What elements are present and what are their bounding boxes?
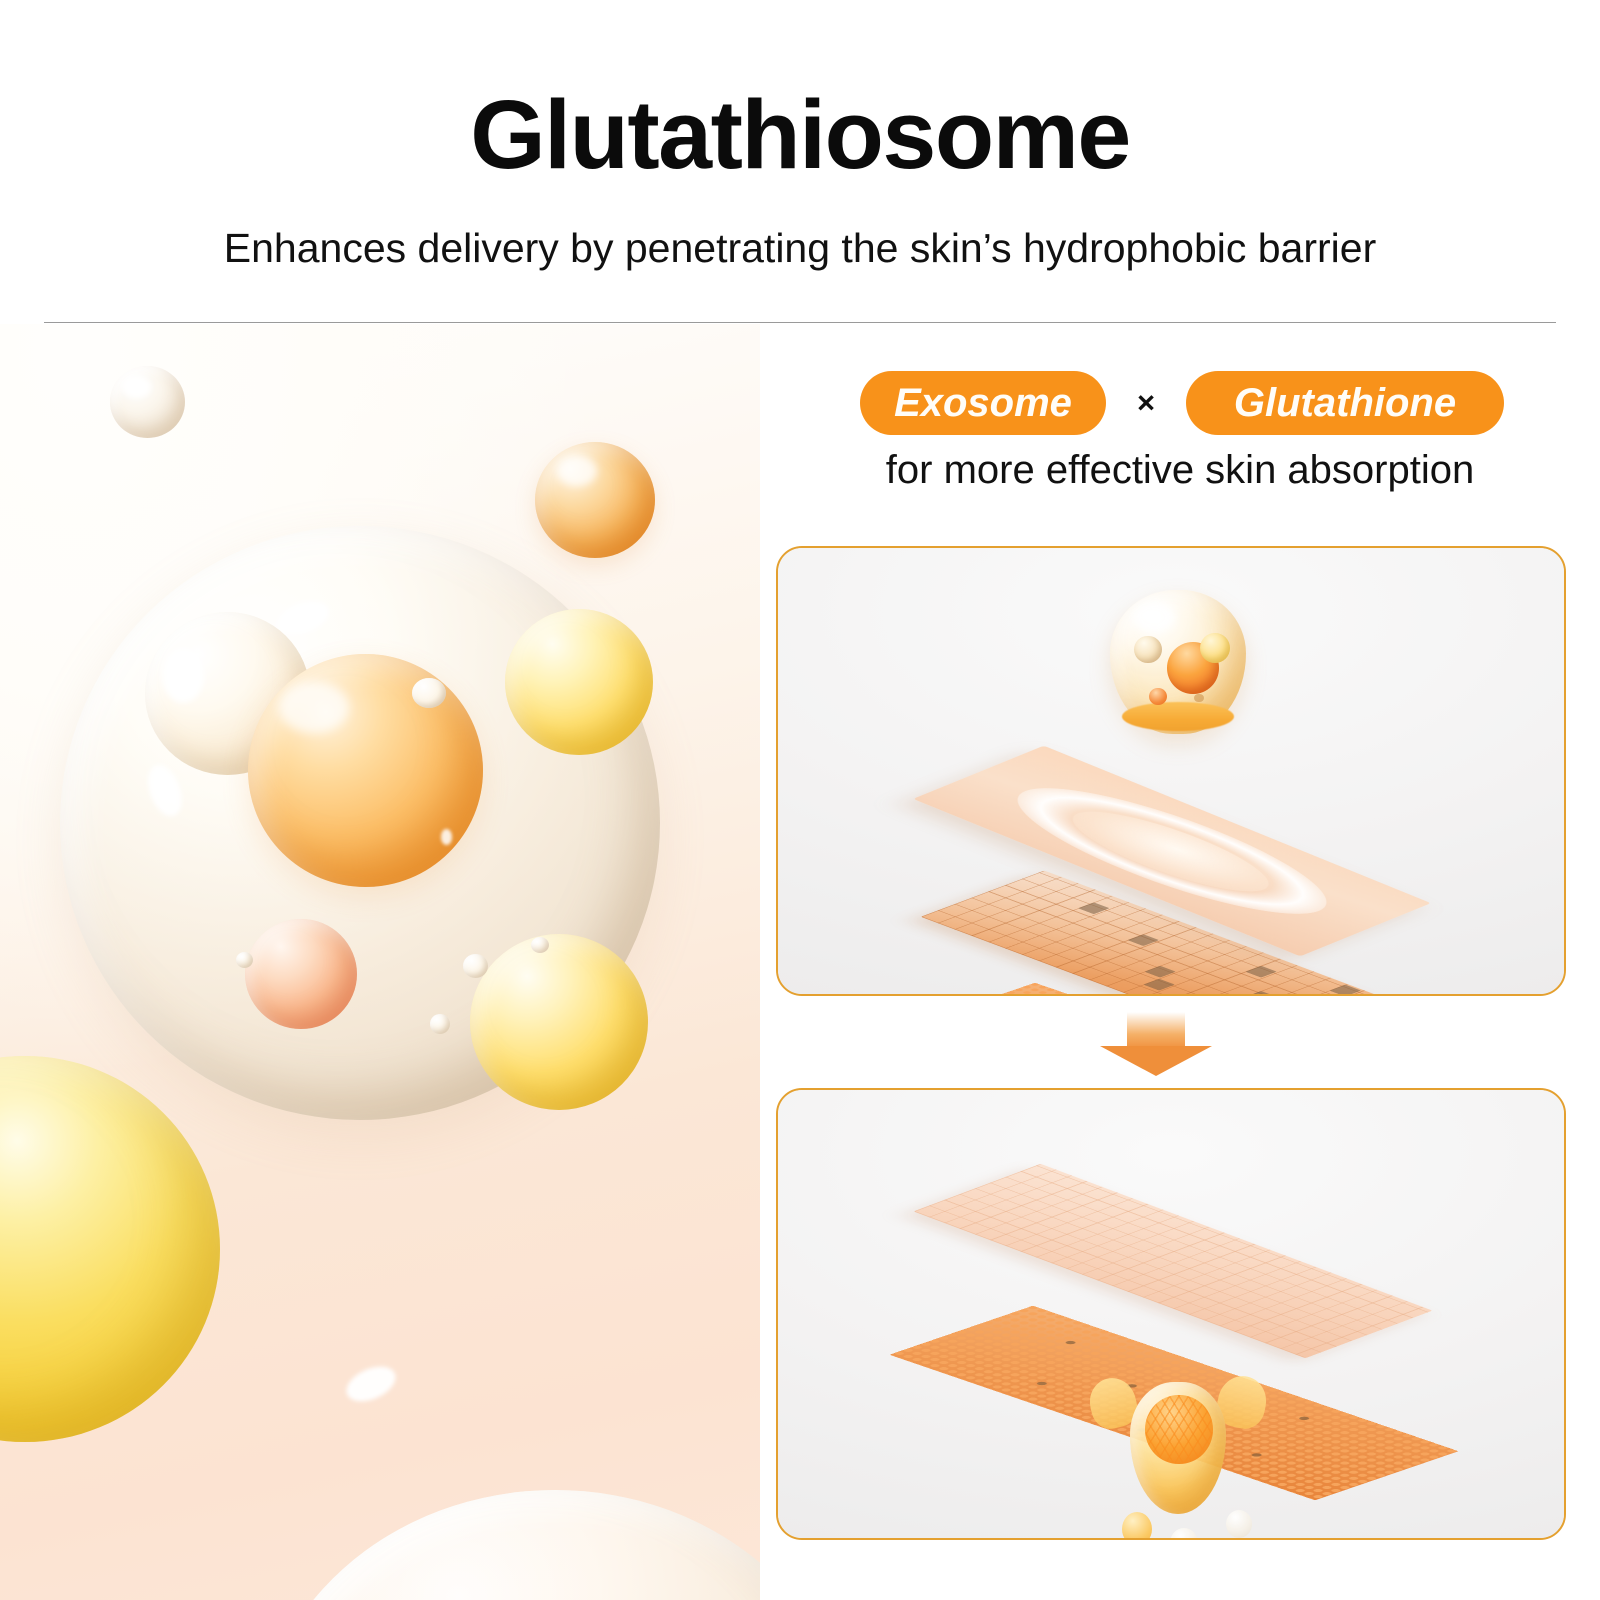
sphere-highlight <box>441 829 453 845</box>
droplet-base-pool <box>1122 702 1234 731</box>
inner-vesicle <box>1200 633 1230 663</box>
droplet-mesh-core <box>1145 1395 1212 1464</box>
top-scene <box>778 548 1564 994</box>
cream-droplet-icon <box>110 366 185 438</box>
multiply-icon: × <box>1106 385 1186 421</box>
orange-droplet-icon <box>535 442 655 558</box>
droplet-highlight <box>1134 603 1175 632</box>
header: Glutathiosome Enhances delivery by penet… <box>0 0 1600 324</box>
dark-tile <box>1144 966 1176 978</box>
micro-droplet <box>1226 1510 1252 1538</box>
dark-bead <box>1250 1453 1264 1458</box>
inner-orange-sphere <box>248 654 483 887</box>
micro-bubble <box>531 937 549 953</box>
page-title: Glutathiosome <box>0 86 1600 183</box>
formula-row: Exosome × Glutathione <box>827 371 1537 435</box>
dark-bead <box>1064 1340 1078 1345</box>
micro-bubble <box>430 1014 450 1034</box>
micro-bubble <box>412 678 446 708</box>
dark-tile <box>1143 979 1175 991</box>
micro-bubble <box>463 954 488 978</box>
panel-exosome-penetrating <box>776 1088 1566 1540</box>
inner-salmon-sphere <box>245 919 357 1029</box>
inner-vesicle <box>1194 694 1204 703</box>
bottom-scene <box>778 1090 1564 1538</box>
arrow-head <box>1100 1046 1212 1076</box>
header-divider <box>44 322 1556 323</box>
inner-yellow-sphere <box>505 609 653 755</box>
micro-droplet <box>1122 1512 1152 1540</box>
pill-glutathione[interactable]: Glutathione <box>1186 371 1504 435</box>
dark-bead <box>1035 1381 1049 1386</box>
micro-bubble <box>236 952 253 968</box>
pill-exosome[interactable]: Exosome <box>860 371 1106 435</box>
dark-tile <box>1329 985 1361 996</box>
arrow-shaft <box>1127 1012 1185 1048</box>
panel-exosome-on-surface <box>776 546 1566 996</box>
dark-tile <box>1127 934 1159 946</box>
inner-vesicle <box>1134 636 1161 663</box>
page-subtitle: Enhances delivery by penetrating the ski… <box>0 228 1600 269</box>
absorption-caption: for more effective skin absorption <box>760 450 1600 490</box>
down-arrow-icon <box>1100 1012 1212 1076</box>
bubble-highlight <box>341 1360 401 1409</box>
glutathiosome-illustration <box>0 324 760 1600</box>
dark-tile <box>1078 902 1110 914</box>
micro-droplet <box>1170 1528 1198 1540</box>
right-column: Exosome × Glutathione for more effective… <box>760 324 1600 1600</box>
exosome-droplet <box>1110 590 1246 734</box>
dark-tile <box>1245 966 1277 978</box>
penetrating-droplet <box>1130 1382 1226 1514</box>
bubble-highlight <box>142 760 188 820</box>
dark-tile <box>1245 991 1277 996</box>
inner-yellow-sphere-2 <box>470 934 648 1110</box>
dark-bead <box>1297 1416 1311 1421</box>
yellow-sphere-left <box>0 1056 220 1442</box>
lower-bubble <box>255 1490 760 1600</box>
